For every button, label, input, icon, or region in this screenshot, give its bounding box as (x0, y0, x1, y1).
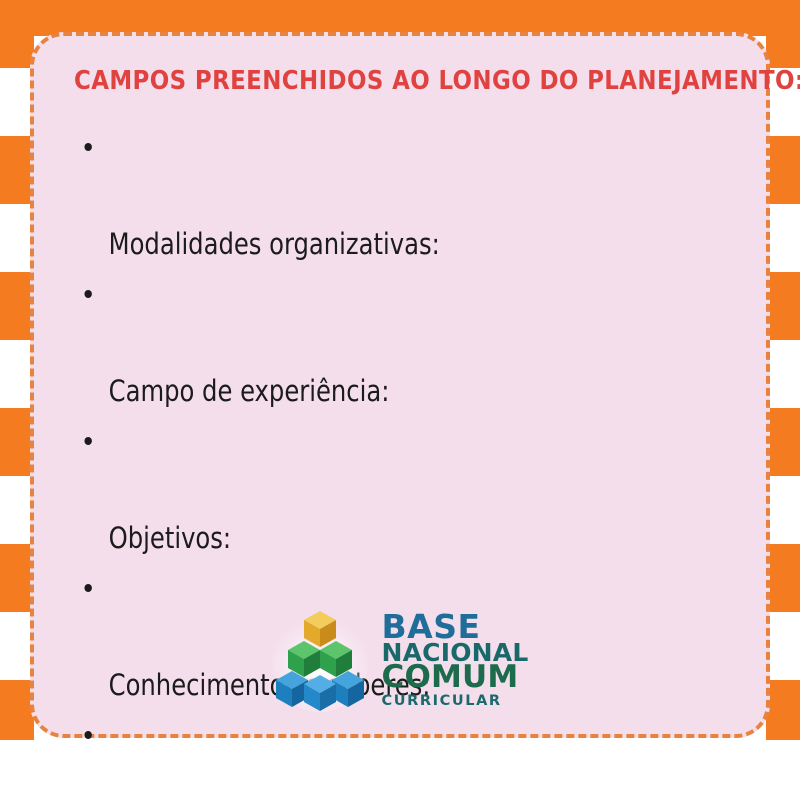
content-card: CAMPOS PREENCHIDOS AO LONGO DO PLANEJAME… (30, 32, 770, 738)
bullet-icon (84, 437, 91, 445)
logo-line-curricular: CURRICULAR (382, 695, 502, 708)
bullet-icon (84, 290, 91, 298)
bncc-cubes-icon (272, 608, 368, 712)
poster-canvas: CAMPOS PREENCHIDOS AO LONGO DO PLANEJAME… (0, 0, 800, 800)
bncc-logo-wordmark: BASE NACIONAL COMUM CURRICULAR (382, 612, 529, 708)
frame-right-checker-band (766, 0, 800, 740)
list-item: Objetivos: (64, 416, 689, 563)
logo-line-comum: COMUM (382, 664, 519, 692)
frame-top-band (0, 0, 800, 36)
list-item-label: Campo de experiência: (109, 374, 390, 408)
list-item: Campo de experiência: (64, 269, 689, 416)
bullet-icon (84, 731, 91, 739)
list-item-label: Modalidades organizativas: (109, 227, 440, 261)
list-item-label: Objetivos: (109, 521, 231, 555)
frame-left-checker-band (0, 0, 34, 740)
bullet-icon (84, 584, 91, 592)
list-item: Modalidades organizativas: (64, 122, 689, 269)
bullet-icon (84, 143, 91, 151)
page-title: CAMPOS PREENCHIDOS AO LONGO DO PLANEJAME… (74, 66, 723, 96)
list-item: Atividade(s) com habilidades auditiva/ c… (64, 710, 689, 800)
bncc-logo: BASE NACIONAL COMUM CURRICULAR (34, 608, 766, 712)
